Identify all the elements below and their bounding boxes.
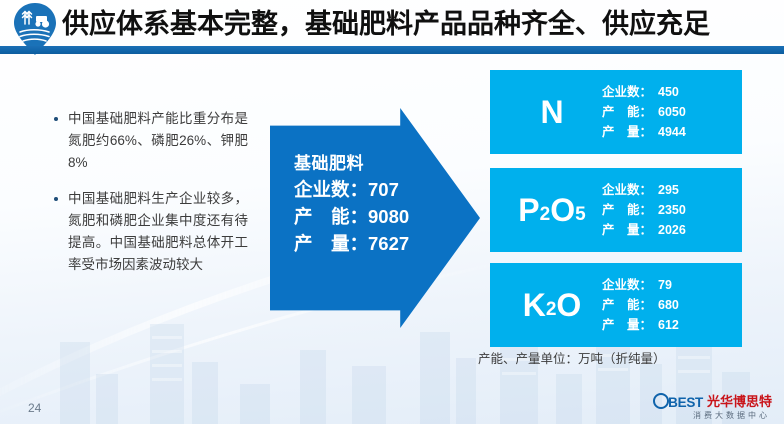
stat-label: 企业数： xyxy=(602,275,658,295)
brand-logo: BEST 光华博思特 消费大数据中心 xyxy=(622,392,772,420)
stat-capacity: 产 能：6050 xyxy=(602,102,736,122)
page-title: 供应体系基本完整，基础肥料产品品种齐全、供应充足 xyxy=(62,4,776,44)
arrow-stat-enterprises: 企业数：707 xyxy=(294,176,474,203)
formula-subscript: 2 xyxy=(546,299,557,321)
stat-value: 680 xyxy=(658,298,679,312)
stat-label: 产 量： xyxy=(602,220,658,240)
stat-value: 6050 xyxy=(658,105,686,119)
stat-label: 产 能： xyxy=(602,295,658,315)
stat-enterprises: 企业数：450 xyxy=(602,82,736,102)
units-footnote: 产能、产量单位：万吨（折纯量） xyxy=(478,348,666,367)
stat-output: 产 量：4944 xyxy=(602,122,736,142)
brand-mark-text: BEST xyxy=(668,395,703,410)
stat-value: 4944 xyxy=(658,125,686,139)
stat-value: 79 xyxy=(658,278,672,292)
formula-symbol: N xyxy=(540,94,563,131)
formula-subscript: 2 xyxy=(540,204,551,226)
nutrient-card-p2o5-stats: 企业数：295 产 能：2350 产 量：2026 xyxy=(602,180,736,240)
stat-capacity: 产 能：680 xyxy=(602,295,736,315)
nutrient-card-k2o-stats: 企业数：79 产 能：680 产 量：612 xyxy=(602,275,736,335)
stat-enterprises: 企业数：295 xyxy=(602,180,736,200)
arrow-stat-output: 产 量：7627 xyxy=(294,230,474,257)
stat-capacity: 产 能：2350 xyxy=(602,200,736,220)
nutrient-card-k2o: K2O 企业数：79 产 能：680 产 量：612 xyxy=(490,263,742,347)
arrow-stat-label: 企业数： xyxy=(294,176,368,203)
list-item: 中国基础肥料生产企业较多，氮肥和磷肥企业集中度还有待提高。中国基础肥料总体开工率… xyxy=(52,188,248,276)
slide: 供应体系基本完整，基础肥料产品品种齐全、供应充足 中国基础肥料产能比重分布是氮肥… xyxy=(0,0,784,424)
stat-label: 企业数： xyxy=(602,180,658,200)
arrow-stat-value: 707 xyxy=(368,179,399,200)
brand-ring-icon xyxy=(653,393,669,409)
formula-subscript-2: 5 xyxy=(575,204,586,226)
brand-subtitle: 消费大数据中心 xyxy=(622,410,772,421)
brand-name: 光华博思特 xyxy=(707,391,772,410)
arrow-title: 基础肥料 xyxy=(294,152,474,176)
brand-main-row: BEST 光华博思特 xyxy=(622,392,772,409)
arrow-stat-label: 产 能： xyxy=(294,203,368,230)
formula-symbol-tail: O xyxy=(556,287,581,324)
slide-header: 供应体系基本完整，基础肥料产品品种齐全、供应充足 xyxy=(0,0,784,56)
arrow-stat-value: 7627 xyxy=(368,233,409,254)
arrow-stat-label: 产 量： xyxy=(294,230,368,257)
page-number: 24 xyxy=(28,401,41,415)
formula-p2o5: P2O5 xyxy=(504,168,600,252)
formula-symbol: P xyxy=(518,192,539,229)
arrow-stat-capacity: 产 能：9080 xyxy=(294,203,474,230)
bullet-list: 中国基础肥料产能比重分布是氮肥约66%、磷肥26%、钾肥8% 中国基础肥料生产企… xyxy=(52,108,248,290)
nutrient-card-n-stats: 企业数：450 产 能：6050 产 量：4944 xyxy=(602,82,736,142)
best-logo-icon: BEST xyxy=(653,391,703,410)
basic-fertilizer-stats: 基础肥料 企业数：707 产 能：9080 产 量：7627 xyxy=(294,152,474,257)
list-item: 中国基础肥料产能比重分布是氮肥约66%、磷肥26%、钾肥8% xyxy=(52,108,248,174)
stat-output: 产 量：612 xyxy=(602,315,736,335)
stat-value: 2350 xyxy=(658,203,686,217)
formula-k2o: K2O xyxy=(504,263,600,347)
stat-label: 产 能： xyxy=(602,200,658,220)
stat-value: 612 xyxy=(658,318,679,332)
nutrient-card-n: N 企业数：450 产 能：6050 产 量：4944 xyxy=(490,70,742,154)
arrow-stat-value: 9080 xyxy=(368,206,409,227)
formula-n: N xyxy=(504,70,600,154)
stat-label: 产 能： xyxy=(602,102,658,122)
stat-value: 2026 xyxy=(658,223,686,237)
stat-label: 产 量： xyxy=(602,122,658,142)
stat-label: 企业数： xyxy=(602,82,658,102)
stat-label: 产 量： xyxy=(602,315,658,335)
stat-enterprises: 企业数：79 xyxy=(602,275,736,295)
title-divider xyxy=(0,46,784,54)
nutrient-card-p2o5: P2O5 企业数：295 产 能：2350 产 量：2026 xyxy=(490,168,742,252)
formula-symbol-tail: O xyxy=(550,192,575,229)
stat-value: 295 xyxy=(658,183,679,197)
stat-output: 产 量：2026 xyxy=(602,220,736,240)
formula-symbol: K xyxy=(523,287,546,324)
stat-value: 450 xyxy=(658,85,679,99)
